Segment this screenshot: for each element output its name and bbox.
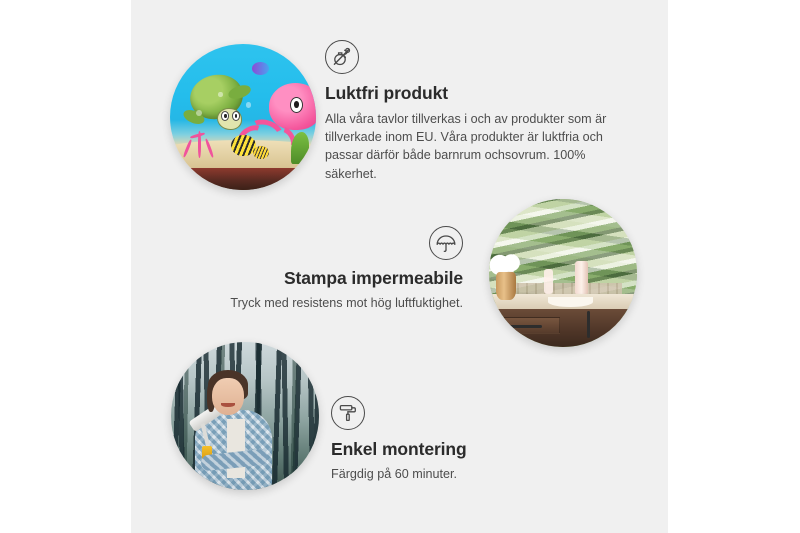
- sea-weed: [291, 132, 309, 164]
- forest-mural-artwork: [171, 342, 319, 490]
- umbrella-icon: [429, 226, 463, 260]
- content-canvas: Luktfri produkt Alla våra tavlor tillver…: [131, 0, 668, 533]
- feature-title: Stampa impermeabile: [163, 268, 463, 290]
- paint-roller-icon: [331, 396, 365, 430]
- woman-face: [212, 378, 243, 415]
- screenshot-stage: Luktfri produkt Alla våra tavlor tillver…: [0, 0, 800, 533]
- inner-shirt: [227, 419, 245, 478]
- faucet: [544, 269, 553, 294]
- feature-odour-free: Luktfri produkt Alla våra tavlor tillver…: [325, 40, 625, 183]
- cabinet-door-handle: [587, 311, 591, 338]
- sink-basin: [548, 297, 592, 307]
- pink-coral: [182, 129, 220, 167]
- no-fragrance-icon: [325, 40, 359, 74]
- photo-woman-paint-roller-forest: [171, 342, 319, 490]
- photo-sea-life-mural: [170, 44, 316, 190]
- bathroom-artwork: [489, 199, 637, 347]
- turtle-eye-left: [221, 111, 229, 120]
- feature-body: Tryck med resistens mot hög luftfuktighe…: [163, 294, 463, 312]
- purple-fish: [252, 62, 270, 75]
- soap-dispenser: [575, 261, 588, 295]
- feature-body: Färgdig på 60 minuter.: [331, 465, 631, 483]
- feature-easy-mounting: Enkel montering Färgdig på 60 minuter.: [331, 396, 631, 483]
- feature-title: Luktfri produkt: [325, 83, 625, 105]
- feature-waterproof-print: Stampa impermeabile Tryck med resistens …: [163, 226, 463, 312]
- bubble: [196, 110, 202, 116]
- feature-body: Alla våra tavlor tillverkas i och av pro…: [325, 110, 625, 183]
- drawer-handle: [510, 325, 543, 328]
- feature-title: Enkel montering: [331, 439, 631, 461]
- gold-vase: [496, 272, 515, 300]
- octopus-eye: [290, 97, 303, 113]
- turtle-eye-right: [232, 111, 240, 120]
- bubble: [246, 102, 251, 107]
- bubble: [218, 92, 222, 96]
- sea-life-artwork: [170, 44, 316, 190]
- photo-bathroom-leaf-wallpaper: [489, 199, 637, 347]
- mural-bottom-frame: [170, 168, 316, 190]
- icon-wrapper: [163, 226, 463, 260]
